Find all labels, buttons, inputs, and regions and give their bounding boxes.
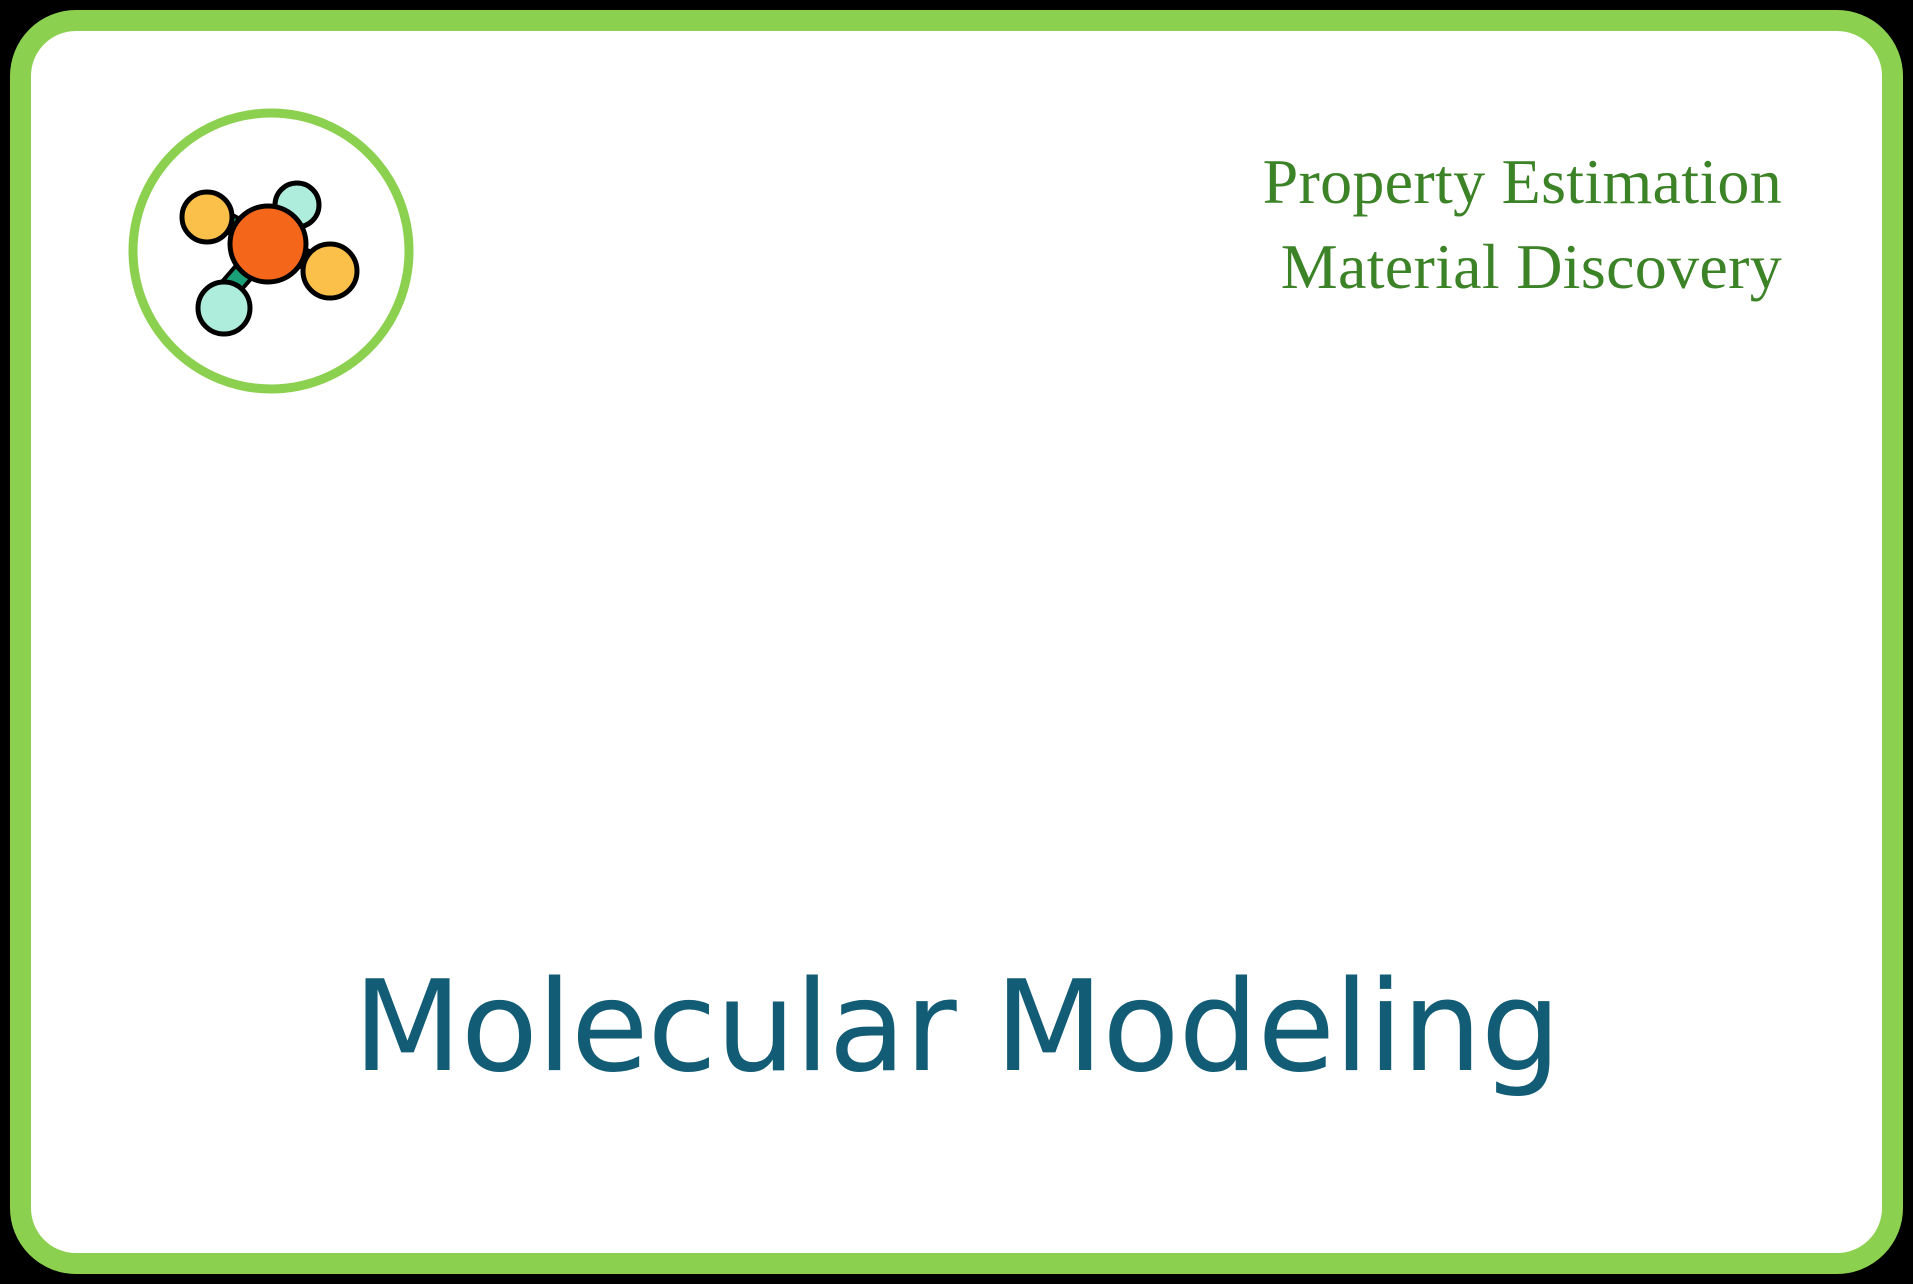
atom-lower-left-mint	[198, 282, 250, 334]
atom-right-amber	[303, 244, 357, 298]
molecule-icon-badge	[126, 106, 416, 396]
card-container: Property Estimation Material Discovery M…	[10, 10, 1903, 1274]
subject-line-2: Material Discovery	[1263, 224, 1782, 309]
page-title: Molecular Modeling	[31, 961, 1882, 1093]
atom-center-orange	[230, 206, 306, 282]
atom-upper-left-amber	[182, 192, 232, 242]
molecule-icon	[126, 106, 416, 396]
subject-heading: Property Estimation Material Discovery	[1263, 139, 1782, 309]
subject-line-1: Property Estimation	[1263, 139, 1782, 224]
